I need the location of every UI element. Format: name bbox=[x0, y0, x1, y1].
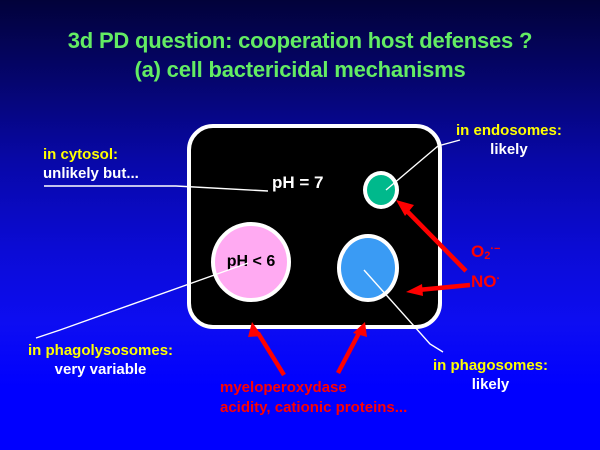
phagolysosome-circle: pH < 6 bbox=[211, 222, 291, 302]
phagolysosome-ph-label: pH < 6 bbox=[227, 253, 275, 271]
label-phagolysosomes-heading: in phagolysosomes: bbox=[28, 341, 173, 360]
label-phagolysosomes-subtext: very variable bbox=[28, 360, 173, 379]
cell-boundary-shape bbox=[187, 124, 442, 329]
label-cytosol-subtext: unlikely but... bbox=[43, 164, 139, 183]
label-reactive-species: O2·− NO· bbox=[471, 238, 500, 293]
label-phagosomes-subtext: likely bbox=[433, 375, 548, 394]
label-killing-mechanisms: myeloperoxydase acidity, cationic protei… bbox=[220, 378, 407, 418]
label-superoxide: O2·− bbox=[471, 238, 500, 268]
label-phagolysosomes: in phagolysosomes: very variable bbox=[28, 341, 173, 379]
arrow-mpo-to-phagolysosome-shaft bbox=[258, 333, 284, 375]
label-phagosomes-heading: in phagosomes: bbox=[433, 356, 548, 375]
label-phagosomes: in phagosomes: likely bbox=[433, 356, 548, 394]
endosome-circle bbox=[363, 171, 399, 209]
arrow-mpo-to-phagosome-shaft bbox=[338, 333, 359, 373]
cytosol-ph-label: pH = 7 bbox=[272, 173, 324, 193]
page-title: 3d PD question: cooperation host defense… bbox=[0, 26, 600, 84]
label-endosomes-subtext: likely bbox=[456, 140, 562, 159]
phagosome-circle bbox=[337, 234, 399, 302]
label-endosomes: in endosomes: likely bbox=[456, 121, 562, 159]
slide-canvas: 3d PD question: cooperation host defense… bbox=[0, 0, 600, 450]
label-cytosol-heading: in cytosol: bbox=[43, 145, 139, 164]
label-cytosol: in cytosol: unlikely but... bbox=[43, 145, 139, 183]
label-nitric-oxide: NO· bbox=[471, 268, 500, 293]
label-endosomes-heading: in endosomes: bbox=[456, 121, 562, 140]
